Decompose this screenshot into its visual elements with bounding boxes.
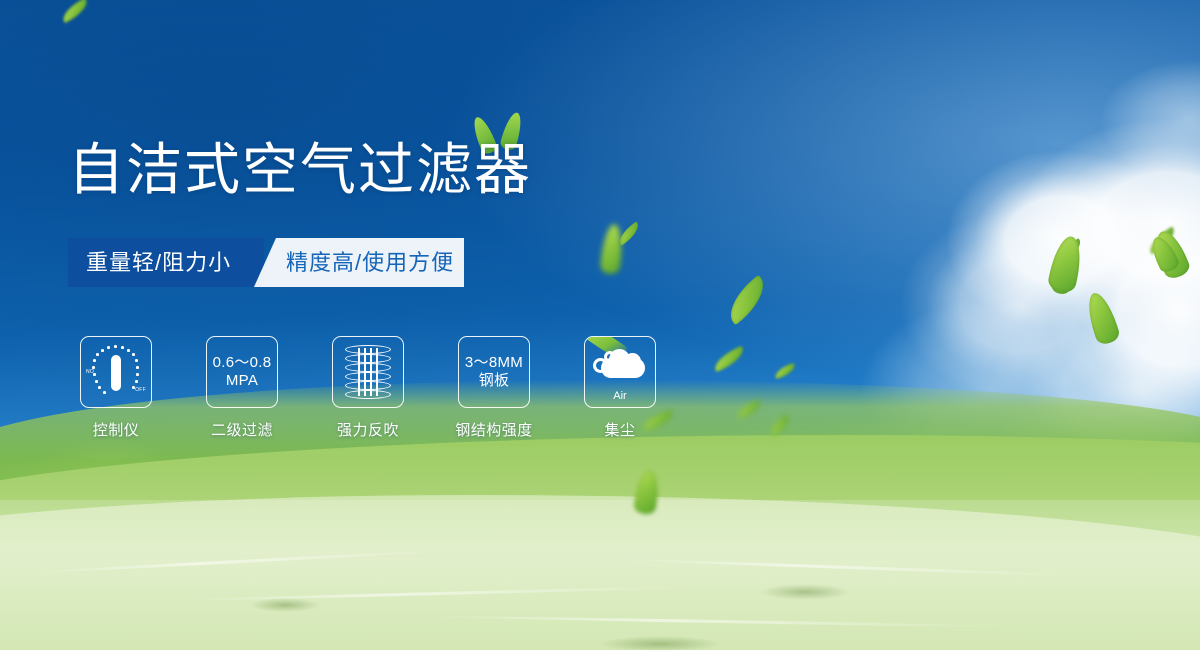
feature-item-control[interactable]: NO OFF 控制仪: [80, 336, 152, 440]
page-title: 自洁式空气过滤器: [68, 142, 532, 198]
subtitle-bar: 重量轻/阻力小 精度高/使用方便: [68, 238, 464, 287]
steel-plate-text-icon: 3～8MM 钢板: [465, 354, 523, 390]
steel-thickness: 3～8MM: [465, 354, 523, 371]
feature-icon-box: 0.6～0.8 MPA: [206, 336, 278, 408]
feature-label: 强力反吹: [337, 419, 399, 440]
feature-item-pressure[interactable]: 0.6～0.8 MPA 二级过滤: [206, 336, 278, 440]
pressure-text-icon: 0.6～0.8 MPA: [213, 354, 272, 390]
air-label: Air: [591, 390, 649, 402]
feature-icon-box: NO OFF: [80, 336, 152, 408]
gauge-off-label: OFF: [135, 387, 146, 393]
feature-label: 二级过滤: [211, 419, 273, 440]
control-gauge-icon: NO OFF: [85, 343, 147, 401]
feature-item-blowback[interactable]: 强力反吹: [332, 336, 404, 440]
feature-icon-box: Air: [584, 336, 656, 408]
feature-list: NO OFF 控制仪 0.6～0.8 MPA 二级过滤: [80, 336, 656, 440]
steel-material: 钢板: [465, 372, 523, 390]
pressure-value: 0.6～0.8: [213, 354, 272, 371]
dust-particle-icon: [604, 351, 616, 363]
feature-icon-box: [332, 336, 404, 408]
feature-label: 钢结构强度: [455, 419, 533, 440]
feature-item-dust[interactable]: Air 集尘: [584, 336, 656, 440]
grass-near-field: [0, 495, 1200, 650]
feature-icon-box: 3～8MM 钢板: [458, 336, 530, 408]
product-banner: 自洁式空气过滤器 重量轻/阻力小 精度高/使用方便: [0, 0, 1200, 650]
subtitle-left-text: 重量轻/阻力小: [86, 238, 231, 287]
gauge-lever: [111, 355, 121, 391]
air-cloud-icon: Air: [591, 344, 649, 400]
gauge-on-label: NO: [86, 369, 94, 375]
filter-coil-icon: [345, 345, 391, 399]
feature-label: 集尘: [604, 419, 635, 440]
pressure-unit: MPA: [213, 372, 272, 390]
subtitle-right-text: 精度高/使用方便: [286, 238, 454, 287]
feature-item-steel[interactable]: 3～8MM 钢板 钢结构强度: [458, 336, 530, 440]
feature-label: 控制仪: [93, 419, 140, 440]
cloud-bump: [624, 353, 641, 370]
